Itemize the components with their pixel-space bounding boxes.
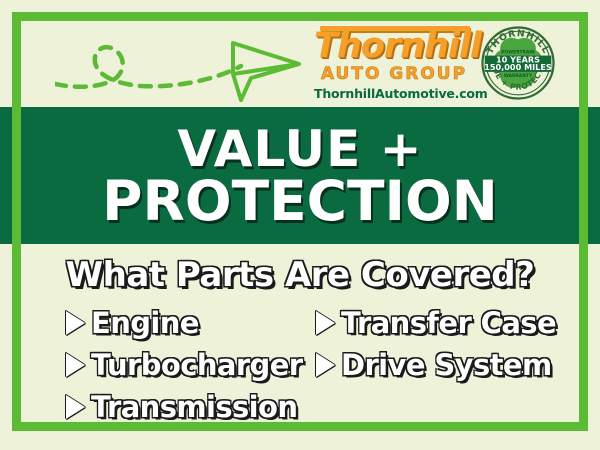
triangle-bullet-icon: [66, 311, 85, 335]
logo-brand-text: Thornhill: [314, 26, 481, 64]
triangle-bullet-icon: [66, 395, 85, 419]
covered-parts-right-column: Transfer Case Drive System: [316, 304, 556, 430]
thornhill-logo: Thornhill AUTO GROUP ThornhillAutomotive…: [314, 26, 474, 102]
part-label: Turbocharger: [91, 348, 302, 382]
covered-parts-columns: Engine Turbocharger Transmission Transfe…: [0, 304, 600, 430]
part-label: Transfer Case: [341, 306, 556, 340]
part-label: Transmission: [91, 390, 297, 424]
headline-band: VALUE + PROTECTION: [0, 107, 600, 244]
triangle-bullet-icon: [316, 353, 335, 377]
dashed-loop-arrow-icon: [55, 22, 305, 107]
covered-parts-left-column: Engine Turbocharger Transmission: [66, 304, 316, 430]
coverage-question: What Parts Are Covered?: [0, 255, 600, 295]
headline-line-1: VALUE +: [177, 122, 422, 176]
part-label: Engine: [91, 306, 199, 340]
triangle-bullet-icon: [316, 311, 335, 335]
logo-website-url: ThornhillAutomotive.com: [314, 86, 474, 101]
seal-miles-text: 150,000 MILES: [484, 62, 552, 72]
logo-tagline: AUTO GROUP: [314, 65, 474, 84]
headline-line-2: PROTECTION: [102, 172, 498, 230]
triangle-bullet-icon: [66, 353, 85, 377]
part-label: Drive System: [341, 348, 552, 382]
list-item: Engine: [66, 304, 316, 342]
warranty-seal-badge: THORNHILL VALUE + PROTECTION POWERTRAIN …: [481, 26, 555, 100]
list-item: Transfer Case: [316, 304, 556, 342]
coverage-section: What Parts Are Covered? Engine Turbochar…: [0, 244, 600, 430]
seal-warranty-text: WARRANTY: [504, 73, 533, 79]
list-item: Drive System: [316, 346, 556, 384]
list-item: Turbocharger: [66, 346, 316, 384]
list-item: Transmission: [66, 388, 316, 426]
advertisement-banner: Thornhill AUTO GROUP ThornhillAutomotive…: [0, 0, 600, 450]
